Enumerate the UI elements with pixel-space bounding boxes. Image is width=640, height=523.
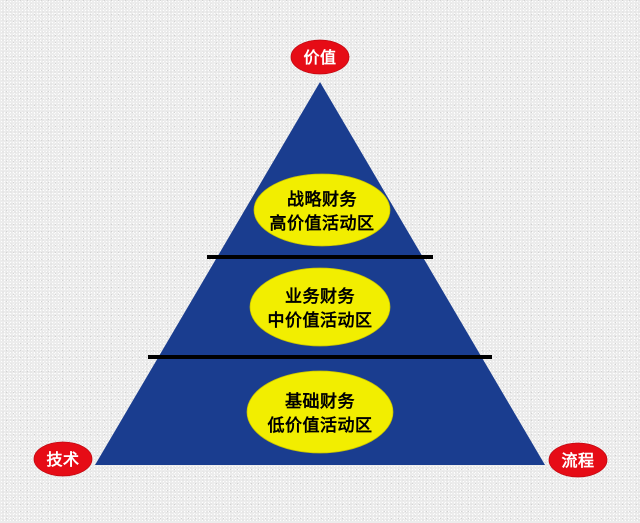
diagram-canvas: 战略财务 高价值活动区 业务财务 中价值活动区 基础财务 低价值活动区 价值 技…: [0, 0, 640, 523]
band-middle-line2: 中价值活动区: [268, 310, 373, 331]
band-bottom-ellipse: [247, 371, 393, 453]
band-middle[interactable]: 业务财务 中价值活动区: [250, 268, 390, 346]
corner-label-bottom-right[interactable]: 流程: [549, 443, 607, 477]
band-bottom[interactable]: 基础财务 低价值活动区: [247, 371, 393, 453]
corner-label-top[interactable]: 价值: [291, 40, 349, 74]
band-top-line2: 高价值活动区: [270, 213, 375, 234]
corner-bottom-right-text: 流程: [561, 451, 594, 470]
corner-top-text: 价值: [303, 48, 336, 67]
band-middle-ellipse: [250, 268, 390, 346]
corner-label-bottom-left[interactable]: 技术: [34, 442, 92, 476]
band-top-line1: 战略财务: [287, 189, 357, 210]
band-middle-line1: 业务财务: [285, 286, 355, 307]
band-bottom-line2: 低价值活动区: [267, 415, 373, 436]
band-top-ellipse: [254, 174, 390, 246]
band-bottom-line1: 基础财务: [284, 391, 355, 412]
pyramid-diagram: 战略财务 高价值活动区 业务财务 中价值活动区 基础财务 低价值活动区 价值 技…: [0, 0, 640, 523]
corner-bottom-left-text: 技术: [46, 450, 79, 469]
band-top[interactable]: 战略财务 高价值活动区: [254, 174, 390, 246]
